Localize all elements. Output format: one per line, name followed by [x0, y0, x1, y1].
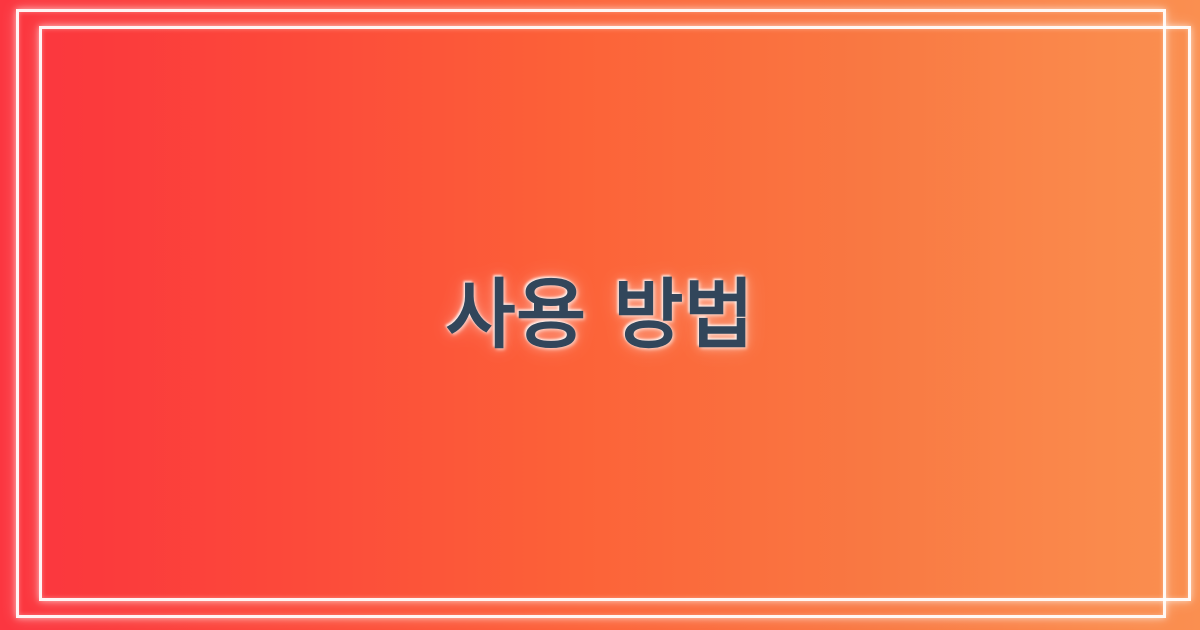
page-title: 사용 방법 [446, 277, 755, 353]
banner-card: 사용 방법 [0, 0, 1200, 630]
title-container: 사용 방법 [0, 0, 1200, 630]
